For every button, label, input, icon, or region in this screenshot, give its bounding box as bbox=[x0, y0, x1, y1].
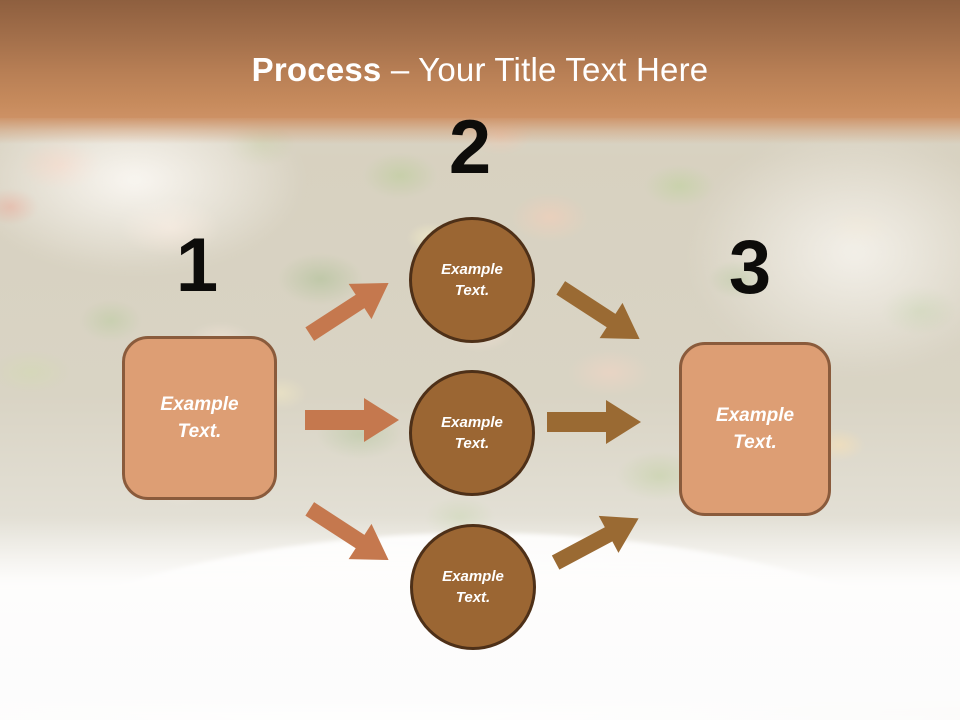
process-circle-bottom[interactable]: Example Text. bbox=[410, 524, 536, 650]
page-title-bold: Process bbox=[252, 51, 382, 88]
arrow-right-dark bbox=[546, 399, 642, 445]
process-circle-bottom-label: Example Text. bbox=[442, 566, 504, 608]
step-number-3: 3 bbox=[705, 230, 795, 306]
process-circle-middle[interactable]: Example Text. bbox=[409, 370, 535, 496]
arrow-up-right-dark bbox=[548, 508, 648, 572]
step-number-1: 1 bbox=[152, 228, 242, 304]
process-box-right[interactable]: Example Text. bbox=[679, 342, 831, 516]
step-number-2: 2 bbox=[425, 110, 515, 186]
process-box-right-label: Example Text. bbox=[716, 402, 794, 456]
arrow-down-right-light bbox=[300, 503, 400, 567]
arrow-right-light bbox=[304, 397, 400, 443]
arrow-down-right-dark bbox=[551, 282, 651, 346]
process-circle-middle-label: Example Text. bbox=[441, 412, 503, 454]
process-circle-top-label: Example Text. bbox=[441, 259, 503, 301]
process-box-left-label: Example Text. bbox=[160, 391, 238, 445]
arrow-up-right-light bbox=[300, 276, 400, 340]
process-box-left[interactable]: Example Text. bbox=[122, 336, 277, 500]
process-circle-top[interactable]: Example Text. bbox=[409, 217, 535, 343]
page-title-rest: – Your Title Text Here bbox=[381, 51, 708, 88]
page-title: Process – Your Title Text Here bbox=[0, 50, 960, 90]
slide-canvas: Process – Your Title Text Here 1 2 3 Exa… bbox=[0, 0, 960, 720]
